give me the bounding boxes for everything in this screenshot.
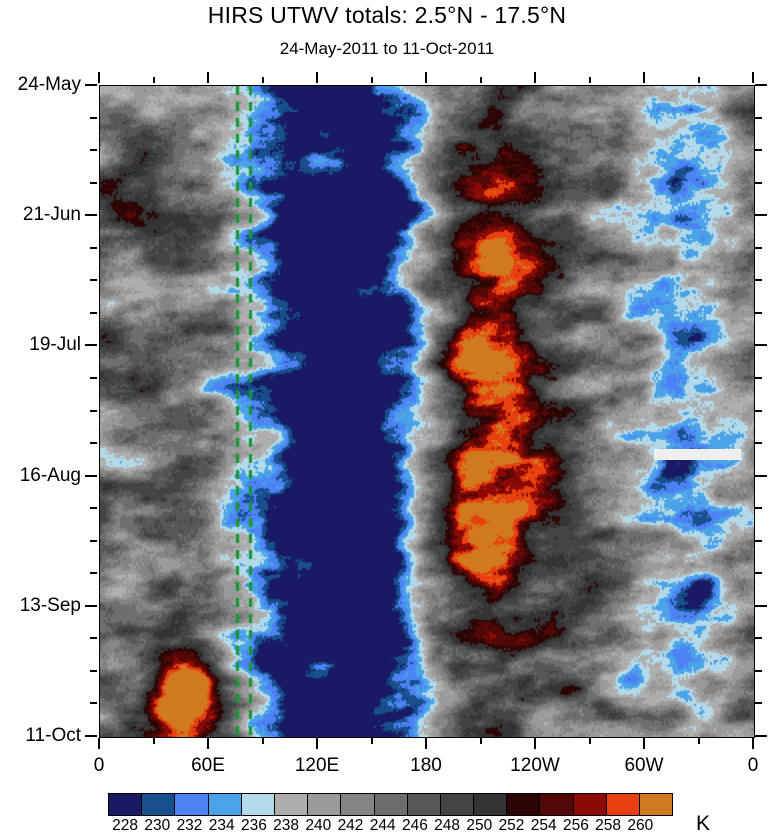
x-axis-label-0: 0 xyxy=(94,755,105,777)
x-tick-bottom xyxy=(643,738,645,749)
x-tick-top xyxy=(589,77,591,83)
colorbar-swatch-1 xyxy=(142,794,175,815)
hovmoller-figure: HIRS UTWV totals: 2.5°N - 17.5°N 24-May-… xyxy=(0,0,774,834)
y-tick-right-minor xyxy=(755,410,762,412)
colorbar-swatch-5 xyxy=(275,794,308,815)
page-subtitle: 24-May-2011 to 11-Oct-2011 xyxy=(0,39,774,59)
y-axis-label-5: 11-Oct xyxy=(9,725,81,747)
x-tick-bottom xyxy=(262,738,264,744)
colorbar-swatch-15 xyxy=(607,794,640,815)
x-tick-top xyxy=(153,77,155,83)
x-tick-top xyxy=(752,72,754,83)
y-axis-label-3: 16-Aug xyxy=(9,465,81,487)
colorbar-tick-13: 254 xyxy=(531,817,557,835)
x-tick-top xyxy=(316,72,318,83)
x-tick-top xyxy=(480,77,482,83)
x-axis-label-1: 60E xyxy=(191,755,225,777)
y-tick-left-minor xyxy=(90,312,97,314)
y-tick-right-minor xyxy=(755,540,762,542)
colorbar-tick-15: 258 xyxy=(595,817,621,835)
y-tick-left-minor xyxy=(90,670,97,672)
colorbar-swatch-16 xyxy=(640,794,672,815)
colorbar-tick-7: 242 xyxy=(338,817,364,835)
y-tick-right xyxy=(755,735,767,737)
y-tick-left-minor xyxy=(90,572,97,574)
y-axis-label-2: 19-Jul xyxy=(9,334,81,356)
y-tick-right-minor xyxy=(755,117,762,119)
x-tick-top xyxy=(262,77,264,83)
x-tick-top xyxy=(698,77,700,83)
y-tick-left-minor xyxy=(90,149,97,151)
colorbar-swatches xyxy=(108,793,673,816)
y-tick-left-minor xyxy=(90,442,97,444)
y-tick-left xyxy=(85,475,97,477)
y-tick-left xyxy=(85,214,97,216)
x-tick-bottom xyxy=(534,738,536,749)
y-axis-label-4: 13-Sep xyxy=(9,595,81,617)
y-tick-right-minor xyxy=(755,507,762,509)
y-tick-left-minor xyxy=(90,117,97,119)
colorbar-unit-label: K xyxy=(696,812,710,836)
colorbar-tick-10: 248 xyxy=(434,817,460,835)
colorbar-tick-12: 252 xyxy=(499,817,525,835)
x-tick-bottom xyxy=(589,738,591,744)
x-tick-bottom xyxy=(698,738,700,744)
colorbar-swatch-9 xyxy=(408,794,441,815)
y-tick-left xyxy=(85,605,97,607)
colorbar-swatch-0 xyxy=(109,794,142,815)
y-tick-right xyxy=(755,475,767,477)
colorbar-swatch-7 xyxy=(341,794,374,815)
plot-area xyxy=(99,85,755,738)
colorbar-tick-2: 232 xyxy=(177,817,203,835)
colorbar-tick-4: 236 xyxy=(241,817,267,835)
colorbar-tick-5: 238 xyxy=(273,817,299,835)
colorbar-tick-1: 230 xyxy=(144,817,170,835)
y-tick-left xyxy=(85,84,97,86)
colorbar-swatch-3 xyxy=(209,794,242,815)
x-tick-bottom xyxy=(316,738,318,749)
colorbar-swatch-8 xyxy=(375,794,408,815)
x-tick-bottom xyxy=(207,738,209,749)
x-tick-top xyxy=(98,72,100,83)
colorbar-swatch-4 xyxy=(242,794,275,815)
y-tick-right-minor xyxy=(755,279,762,281)
y-tick-left-minor xyxy=(90,702,97,704)
y-tick-right xyxy=(755,605,767,607)
page-title: HIRS UTWV totals: 2.5°N - 17.5°N xyxy=(0,2,774,29)
colorbar-tick-14: 256 xyxy=(563,817,589,835)
x-tick-top xyxy=(534,72,536,83)
colorbar-swatch-13 xyxy=(540,794,573,815)
y-axis-label-1: 21-Jun xyxy=(9,204,81,226)
colorbar-swatch-14 xyxy=(574,794,607,815)
y-tick-right xyxy=(755,84,767,86)
y-tick-right-minor xyxy=(755,670,762,672)
y-tick-right-minor xyxy=(755,182,762,184)
y-tick-right-minor xyxy=(755,377,762,379)
colorbar-tick-8: 244 xyxy=(370,817,396,835)
y-axis-label-0: 24-May xyxy=(9,74,81,96)
y-tick-left-minor xyxy=(90,540,97,542)
colorbar-swatch-6 xyxy=(308,794,341,815)
y-tick-right-minor xyxy=(755,247,762,249)
colorbar-tick-6: 240 xyxy=(305,817,331,835)
x-axis-label-6: 0 xyxy=(748,755,759,777)
y-tick-right-minor xyxy=(755,149,762,151)
x-tick-bottom xyxy=(153,738,155,744)
y-tick-left-minor xyxy=(90,247,97,249)
x-axis-label-4: 120W xyxy=(510,755,560,777)
x-axis-label-5: 60W xyxy=(624,755,663,777)
hovmoller-heatmap xyxy=(100,86,754,737)
white-annotation-bar xyxy=(654,449,741,460)
y-tick-left xyxy=(85,735,97,737)
y-tick-right-minor xyxy=(755,637,762,639)
colorbar-swatch-11 xyxy=(474,794,507,815)
y-tick-left-minor xyxy=(90,377,97,379)
x-tick-bottom xyxy=(98,738,100,749)
colorbar: 2282302322342362382402422442462482502522… xyxy=(108,793,673,816)
x-tick-top xyxy=(207,72,209,83)
y-tick-left-minor xyxy=(90,637,97,639)
y-tick-left-minor xyxy=(90,182,97,184)
x-tick-bottom xyxy=(425,738,427,749)
x-tick-bottom xyxy=(480,738,482,744)
x-tick-bottom xyxy=(752,738,754,749)
x-axis-label-3: 180 xyxy=(410,755,442,777)
colorbar-tick-11: 250 xyxy=(466,817,492,835)
x-tick-bottom xyxy=(371,738,373,744)
y-tick-right-minor xyxy=(755,312,762,314)
y-tick-left-minor xyxy=(90,410,97,412)
y-tick-right-minor xyxy=(755,702,762,704)
y-tick-right xyxy=(755,344,767,346)
colorbar-tick-16: 260 xyxy=(627,817,653,835)
x-tick-top xyxy=(425,72,427,83)
x-axis-label-2: 120E xyxy=(295,755,339,777)
y-tick-right-minor xyxy=(755,442,762,444)
colorbar-tick-3: 234 xyxy=(209,817,235,835)
x-tick-top xyxy=(643,72,645,83)
y-tick-left-minor xyxy=(90,507,97,509)
y-tick-right-minor xyxy=(755,572,762,574)
colorbar-swatch-2 xyxy=(175,794,208,815)
colorbar-tick-0: 228 xyxy=(112,817,138,835)
y-tick-left xyxy=(85,344,97,346)
colorbar-tick-9: 246 xyxy=(402,817,428,835)
x-tick-top xyxy=(371,77,373,83)
colorbar-swatch-12 xyxy=(507,794,540,815)
y-tick-left-minor xyxy=(90,279,97,281)
y-tick-right xyxy=(755,214,767,216)
colorbar-swatch-10 xyxy=(441,794,474,815)
